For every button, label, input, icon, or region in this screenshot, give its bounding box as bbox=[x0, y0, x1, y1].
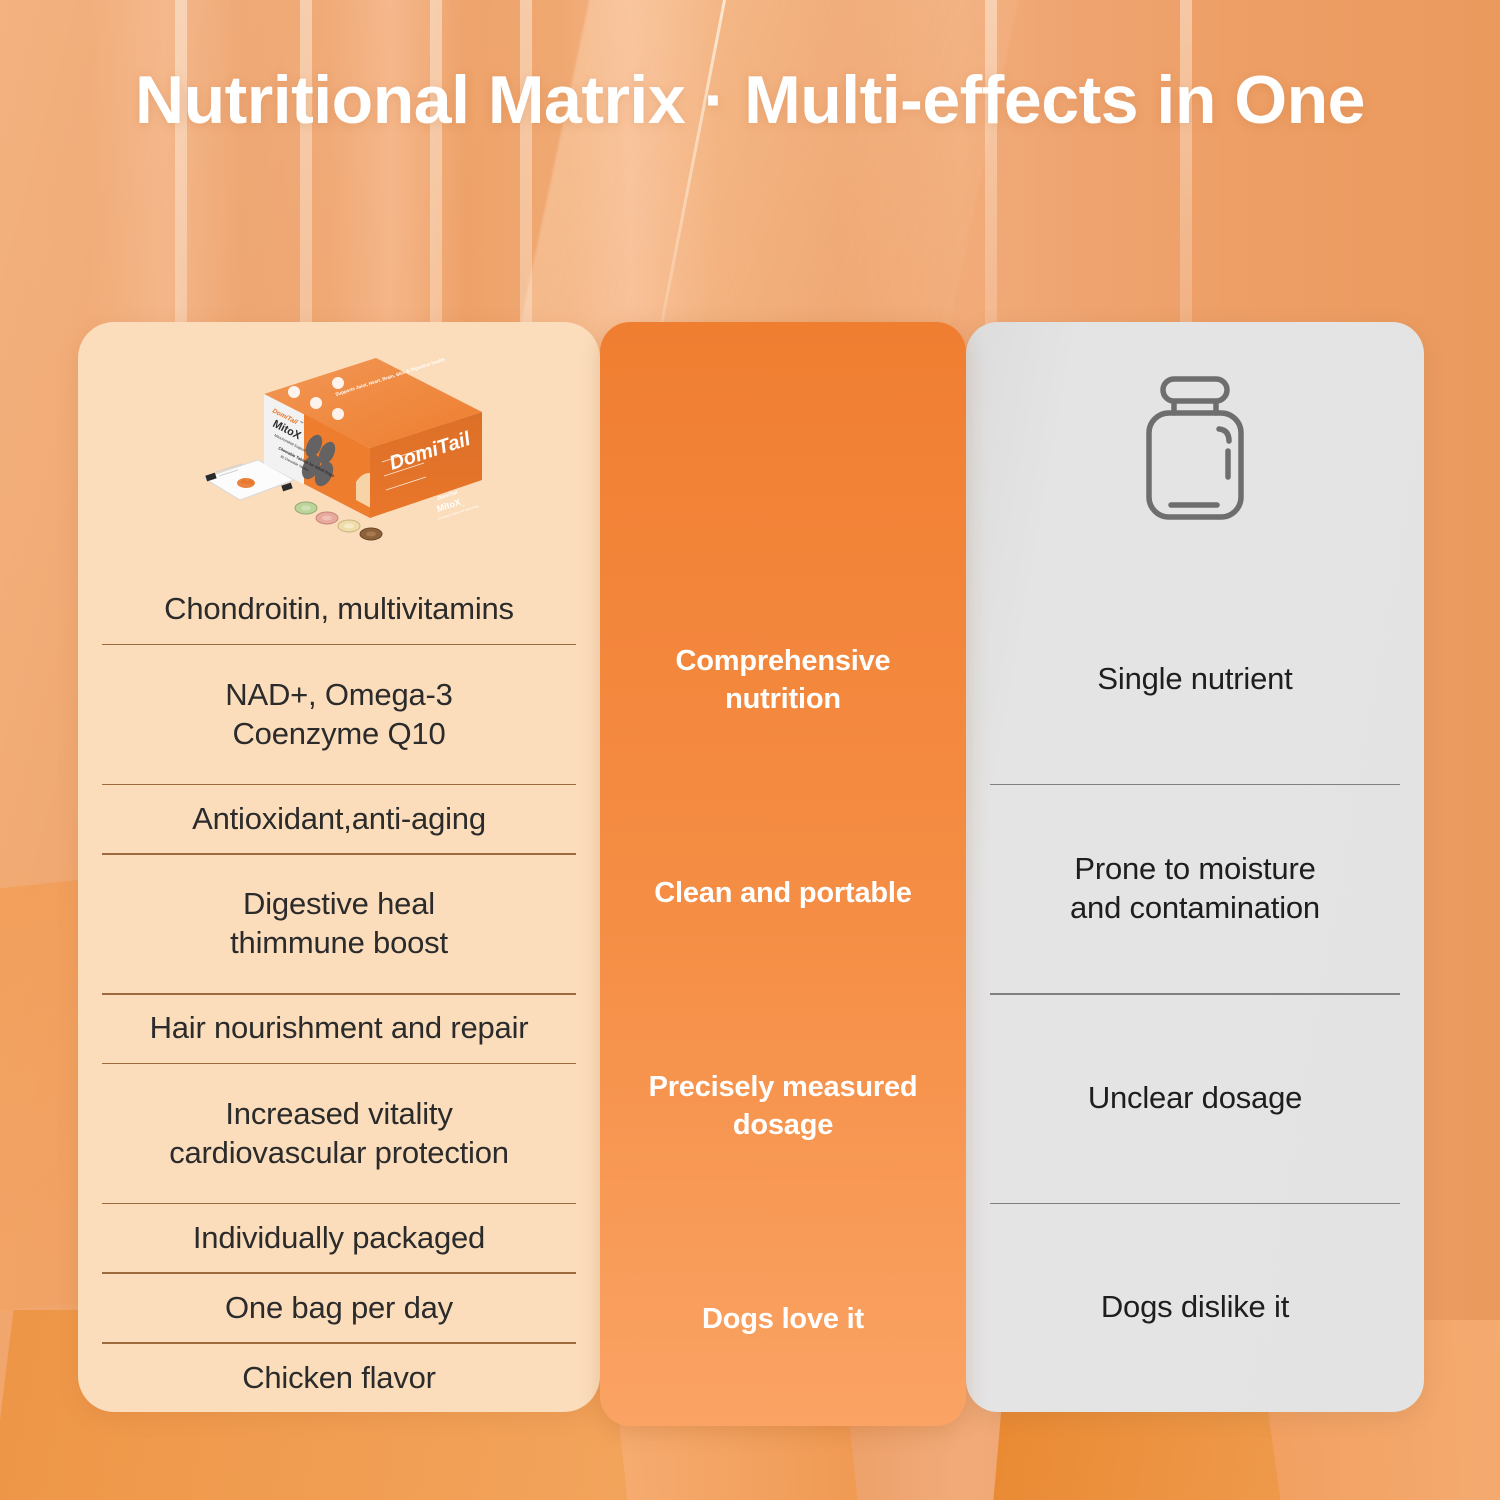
product-box-photo: DomiTail MitoX ™ Mitochondrial Support C… bbox=[186, 350, 496, 550]
jar-icon-zone bbox=[966, 322, 1424, 574]
competitor-list: Single nutrient Prone to moistureand con… bbox=[966, 574, 1424, 1412]
benefit-card: Comprehensivenutrition Clean and portabl… bbox=[600, 322, 966, 1426]
list-item: Digestive healthimmune boost bbox=[78, 853, 600, 993]
background-diagonal-edge bbox=[650, 0, 733, 376]
list-item: Chicken flavor bbox=[78, 1342, 600, 1412]
list-item: Dogs dislike it bbox=[966, 1203, 1424, 1413]
list-item: One bag per day bbox=[78, 1272, 600, 1342]
list-item: Single nutrient bbox=[966, 574, 1424, 784]
benefit-card-spacer bbox=[600, 322, 966, 574]
list-item: Comprehensivenutrition bbox=[600, 574, 966, 787]
feature-list-ours: Chondroitin, multivitamins NAD+, Omega-3… bbox=[78, 574, 600, 1412]
list-item: Increased vitalitycardiovascular protect… bbox=[78, 1063, 600, 1203]
list-item: Individually packaged bbox=[78, 1203, 600, 1273]
list-item: Unclear dosage bbox=[966, 993, 1424, 1203]
list-item: NAD+, Omega-3Coenzyme Q10 bbox=[78, 644, 600, 784]
list-item: Clean and portable bbox=[600, 787, 966, 1000]
product-photo-zone: DomiTail MitoX ™ Mitochondrial Support C… bbox=[78, 322, 600, 574]
list-item: Prone to moistureand contamination bbox=[966, 784, 1424, 994]
list-item: Dogs love it bbox=[600, 1213, 966, 1426]
benefit-list: Comprehensivenutrition Clean and portabl… bbox=[600, 574, 966, 1426]
list-item: Precisely measureddosage bbox=[600, 1000, 966, 1213]
comparison-rack: DomiTail MitoX ™ Mitochondrial Support C… bbox=[78, 322, 1424, 1426]
competitor-card: Single nutrient Prone to moistureand con… bbox=[966, 322, 1424, 1412]
product-feature-card: DomiTail MitoX ™ Mitochondrial Support C… bbox=[78, 322, 600, 1412]
list-item: Chondroitin, multivitamins bbox=[78, 574, 600, 644]
list-item: Antioxidant,anti-aging bbox=[78, 784, 600, 854]
infographic-canvas: Nutritional Matrix · Multi-effects in On… bbox=[0, 0, 1500, 1500]
list-item: Hair nourishment and repair bbox=[78, 993, 600, 1063]
supplement-jar-icon bbox=[1141, 373, 1249, 523]
page-title: Nutritional Matrix · Multi-effects in On… bbox=[70, 60, 1430, 140]
